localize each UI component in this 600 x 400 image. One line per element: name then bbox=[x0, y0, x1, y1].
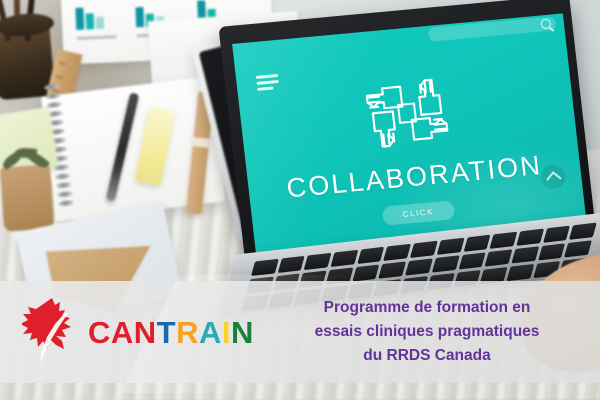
logo-letter: T bbox=[157, 317, 176, 348]
logo-letter: N bbox=[231, 317, 254, 348]
tagline-line-1: Programme de formation en bbox=[268, 296, 586, 320]
four-hands-collaboration-icon bbox=[357, 70, 458, 161]
logo-letter: I bbox=[222, 317, 231, 348]
collaboration-headline: COLLABORATION bbox=[285, 150, 544, 204]
search-icon[interactable] bbox=[540, 19, 551, 30]
logo-letter: N bbox=[134, 317, 157, 348]
chevron-up-icon[interactable] bbox=[540, 164, 567, 190]
mini-bar-chart bbox=[75, 5, 104, 30]
tagline-line-2: essais cliniques pragmatiques bbox=[268, 320, 586, 344]
tagline-line-3: du RRDS Canada bbox=[268, 344, 586, 368]
click-button[interactable]: CLICK bbox=[382, 200, 456, 226]
program-tagline: Programme de formation en essais cliniqu… bbox=[268, 296, 600, 368]
laptop-device: COLLABORATION CLICK bbox=[218, 8, 600, 308]
cantrain-wordmark: C A N T R A I N bbox=[88, 317, 254, 348]
bottom-banner: C A N T R A I N Programme de formation e… bbox=[0, 281, 600, 383]
hamburger-menu-icon[interactable] bbox=[256, 74, 280, 94]
red-maple-leaf-icon bbox=[22, 296, 80, 369]
logo-letter: C bbox=[88, 317, 111, 348]
promotional-banner-image: COLLABORATION CLICK bbox=[0, 0, 600, 400]
stick-band bbox=[193, 137, 210, 148]
logo-letter: A bbox=[111, 317, 134, 348]
logo-letter: A bbox=[199, 317, 222, 348]
plant-cup bbox=[0, 164, 54, 231]
cantrain-logo[interactable]: C A N T R A I N bbox=[0, 296, 268, 369]
logo-letter: R bbox=[176, 317, 199, 348]
